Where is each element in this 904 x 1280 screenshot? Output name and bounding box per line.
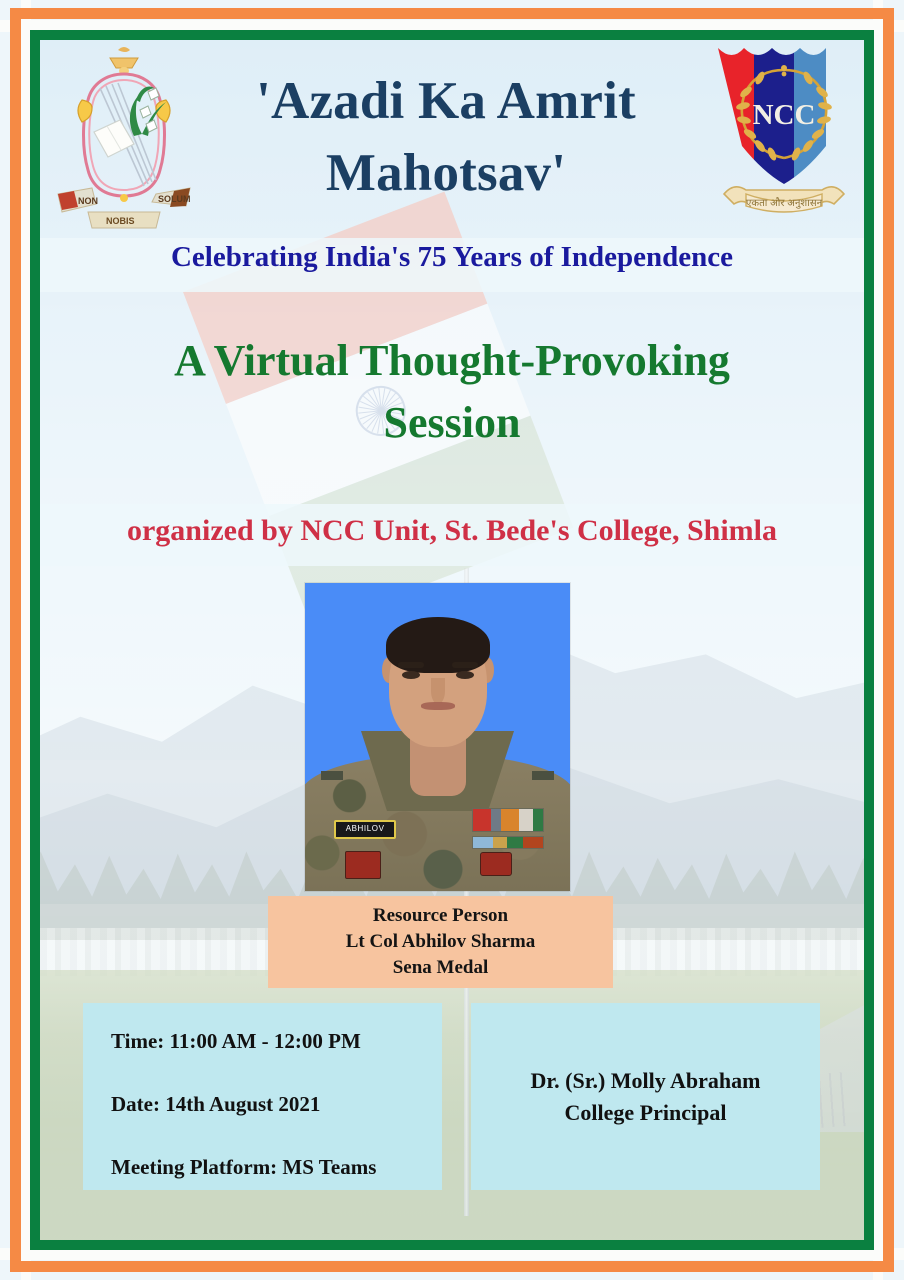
resource-person-role: Resource Person [373, 903, 508, 929]
event-time: Time: 11:00 AM - 12:00 PM [111, 1029, 442, 1054]
nose [431, 678, 445, 704]
principal-name: Dr. (Sr.) Molly Abraham [531, 1065, 761, 1097]
resource-person-award: Sena Medal [393, 955, 489, 981]
crest-motto-center: NOBIS [106, 216, 135, 226]
title-line-2: Mahotsav' [186, 138, 706, 210]
medal-ribbons-bottom [472, 836, 544, 849]
eye-right [456, 671, 474, 679]
principal-designation: College Principal [565, 1097, 727, 1129]
name-tag: ABHILOV [334, 820, 396, 839]
headline-line-2: Session [70, 392, 834, 454]
event-details-box: Time: 11:00 AM - 12:00 PM Date: 14th Aug… [83, 1003, 442, 1190]
poster-canvas: NON SOLUM NOBIS [0, 0, 904, 1280]
event-date: Date: 14th August 2021 [111, 1092, 442, 1117]
crest-motto-left: NON [78, 196, 98, 206]
organizer-line: organized by NCC Unit, St. Bede's Colleg… [40, 514, 864, 548]
formation-patch-right [480, 852, 512, 876]
frame-gutter-right [873, 0, 883, 1280]
event-platform: Meeting Platform: MS Teams [111, 1155, 442, 1180]
ncc-crest-ribbon-text: एकता और अनुशासन [746, 197, 823, 209]
frame-gutter-top [0, 20, 904, 32]
crest-motto-right: SOLUM [158, 194, 191, 204]
mouth [421, 702, 455, 710]
ncc-crest-label: NCC [753, 99, 816, 131]
rank-epaulette-right [532, 771, 554, 780]
subtitle: Celebrating India's 75 Years of Independ… [40, 241, 864, 274]
principal-box: Dr. (Sr.) Molly Abraham College Principa… [471, 1003, 820, 1190]
resource-person-box: Resource Person Lt Col Abhilov Sharma Se… [268, 896, 613, 988]
college-crest-icon: NON SOLUM NOBIS [48, 44, 200, 234]
frame-gutter-bottom [0, 1248, 904, 1260]
frame-gutter-left [21, 0, 31, 1280]
ncc-crest-icon: NCC एकता और अनुशासन [710, 38, 858, 236]
page-title: 'Azadi Ka Amrit Mahotsav' [186, 66, 706, 209]
resource-person-name: Lt Col Abhilov Sharma [346, 929, 536, 955]
eye-left [402, 671, 420, 679]
rank-epaulette-left [321, 771, 343, 780]
medal-ribbons-top [472, 808, 544, 832]
formation-patch-left [345, 851, 381, 879]
title-line-1: 'Azadi Ka Amrit [186, 66, 706, 138]
eyebrow-right [452, 662, 478, 668]
speaker-photo: ABHILOV [305, 583, 570, 891]
headline-line-1: A Virtual Thought-Provoking [70, 330, 834, 392]
event-headline: A Virtual Thought-Provoking Session [70, 330, 834, 455]
eyebrow-left [398, 662, 424, 668]
